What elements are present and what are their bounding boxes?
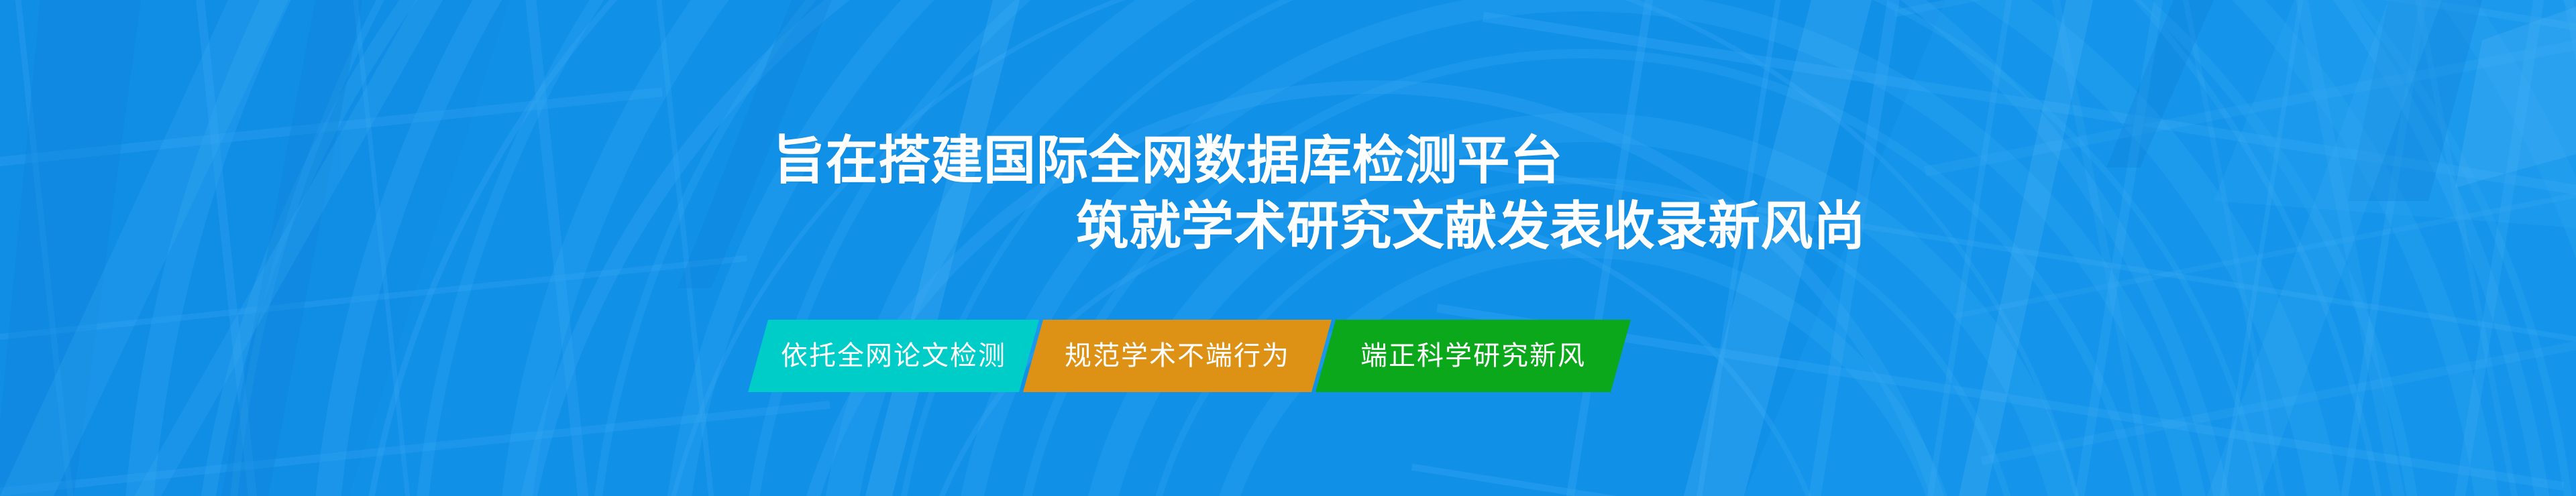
background-decoration bbox=[0, 0, 2576, 496]
feature-tag-label: 规范学术不端行为 bbox=[1065, 343, 1290, 369]
feature-tag-plagiarism-detection[interactable]: 依托全网论文检测 bbox=[748, 320, 1039, 392]
headline-block: 旨在搭建国际全网数据库检测平台 筑就学术研究文献发表收录新风尚 bbox=[0, 0, 2576, 496]
background-pattern-svg bbox=[0, 0, 2576, 496]
feature-tag-label: 依托全网论文检测 bbox=[781, 343, 1006, 369]
feature-tag-label: 端正科学研究新风 bbox=[1360, 343, 1586, 369]
headline-line-2: 筑就学术研究文献发表收录新风尚 bbox=[1076, 200, 1866, 252]
feature-tag-academic-misconduct[interactable]: 规范学术不端行为 bbox=[1023, 320, 1332, 392]
promo-banner: 旨在搭建国际全网数据库检测平台 筑就学术研究文献发表收录新风尚 依托全网论文检测… bbox=[0, 0, 2576, 496]
feature-tag-strip: 依托全网论文检测 规范学术不端行为 端正科学研究新风 bbox=[758, 320, 1621, 392]
feature-tag-research-integrity[interactable]: 端正科学研究新风 bbox=[1316, 320, 1631, 392]
headline-line-1: 旨在搭建国际全网数据库检测平台 bbox=[773, 134, 1563, 186]
